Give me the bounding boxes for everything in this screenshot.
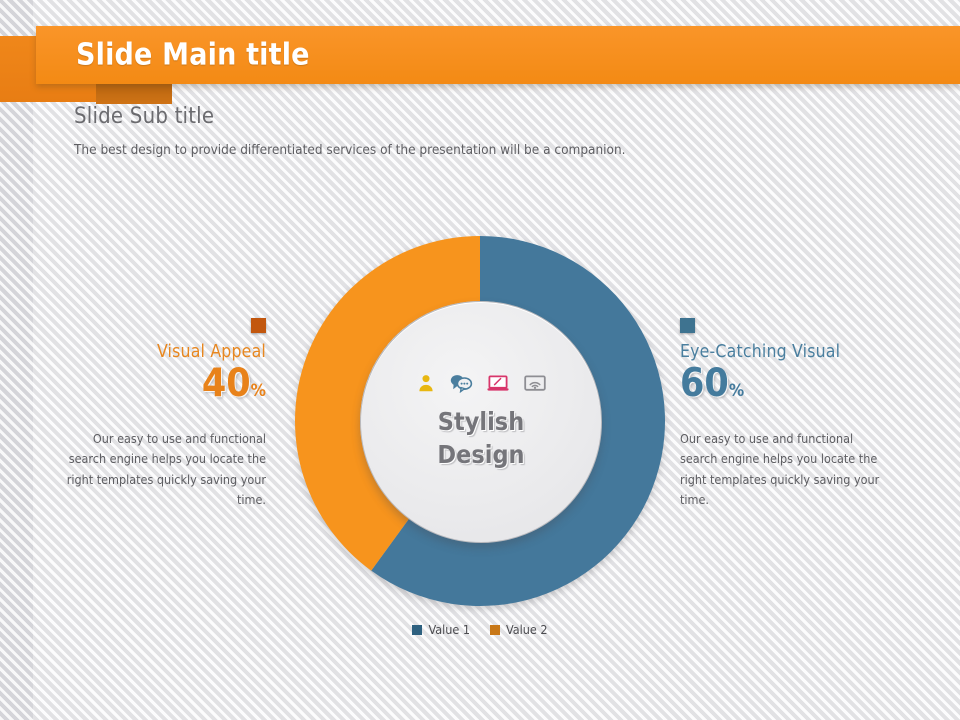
slide-canvas: Slide Main title Slide Sub title The bes…	[0, 0, 960, 720]
panel-value-right: 60%	[680, 364, 880, 403]
center-icon-row	[416, 373, 547, 393]
panel-description-left: Our easy to use and functional search en…	[66, 429, 266, 510]
panel-percent-left: %	[251, 381, 266, 401]
user-icon	[416, 373, 436, 393]
panel-eye-catching-visual: Eye-Catching Visual 60% Our easy to use …	[680, 318, 880, 510]
panel-number-right: 60	[680, 361, 729, 406]
slide-subtitle: Slide Sub title	[74, 104, 214, 129]
legend-item-value-1[interactable]: Value 1	[412, 622, 470, 637]
laptop-pen-icon	[486, 373, 510, 393]
chart-legend: Value 1 Value 2	[0, 622, 960, 637]
donut-chart: Stylish Design	[295, 236, 665, 606]
header-ribbon: Slide Main title	[36, 26, 960, 84]
left-edge-band	[0, 0, 33, 720]
panel-visual-appeal: Visual Appeal 40% Our easy to use and fu…	[66, 318, 266, 510]
chat-bubbles-icon	[449, 373, 473, 393]
panel-marker-right	[680, 318, 695, 333]
legend-item-value-2[interactable]: Value 2	[490, 622, 548, 637]
page-title: Slide Main title	[76, 38, 310, 73]
wifi-icon	[523, 373, 547, 393]
legend-swatch-value-2	[490, 625, 500, 635]
center-title-line-1: Stylish	[437, 405, 524, 439]
panel-label-left: Visual Appeal	[66, 342, 266, 362]
legend-label-value-1: Value 1	[428, 622, 470, 637]
center-title: Stylish Design	[437, 405, 524, 472]
center-title-line-2: Design	[437, 438, 524, 472]
legend-label-value-2: Value 2	[506, 622, 548, 637]
legend-swatch-value-1	[412, 625, 422, 635]
panel-percent-right: %	[729, 381, 744, 401]
panel-label-right: Eye-Catching Visual	[680, 342, 880, 362]
panel-number-left: 40	[202, 361, 251, 406]
panel-description-right: Our easy to use and functional search en…	[680, 429, 880, 510]
panel-value-left: 40%	[66, 364, 266, 403]
slide-description: The best design to provide differentiate…	[74, 142, 626, 158]
panel-marker-left	[251, 318, 266, 333]
donut-center-panel: Stylish Design	[360, 301, 602, 543]
